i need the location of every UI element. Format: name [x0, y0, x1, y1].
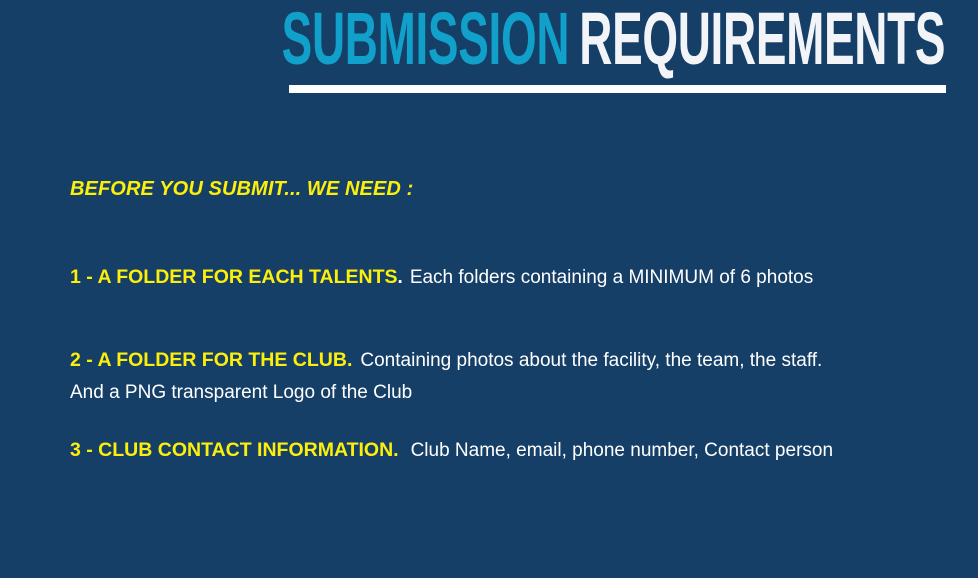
title-block: SUBMISSIONREQUIREMENTS — [0, 0, 978, 110]
requirement-1-detail: Each folders containing a MINIMUM of 6 p… — [403, 267, 813, 288]
page-title: SUBMISSIONREQUIREMENTS — [282, 2, 945, 76]
requirement-1-label: 1 - A FOLDER FOR EACH TALENTS — [70, 266, 398, 288]
lead-text: BEFORE YOU SUBMIT... WE NEED : — [70, 176, 413, 202]
requirement-3-label: 3 - CLUB CONTACT INFORMATION. — [70, 439, 399, 461]
requirement-3-detail: Club Name, email, phone number, Contact … — [399, 440, 833, 461]
title-word-submission: SUBMISSION — [282, 0, 570, 80]
title-underline-rule — [289, 85, 946, 93]
requirement-item-1: 1 - A FOLDER FOR EACH TALENTS.Each folde… — [70, 261, 813, 294]
requirement-2-detail: Containing photos about the facility, th… — [352, 350, 822, 371]
requirement-2-detail-line2: And a PNG transparent Logo of the Club — [70, 382, 412, 403]
requirement-item-2: 2 - A FOLDER FOR THE CLUB.Containing pho… — [70, 344, 950, 409]
requirement-2-label: 2 - A FOLDER FOR THE CLUB. — [70, 349, 352, 371]
title-word-requirements: REQUIREMENTS — [579, 0, 945, 80]
slide-canvas: SUBMISSIONREQUIREMENTS BEFORE YOU SUBMIT… — [0, 0, 978, 578]
requirement-item-3: 3 - CLUB CONTACT INFORMATION.Club Name, … — [70, 434, 833, 467]
